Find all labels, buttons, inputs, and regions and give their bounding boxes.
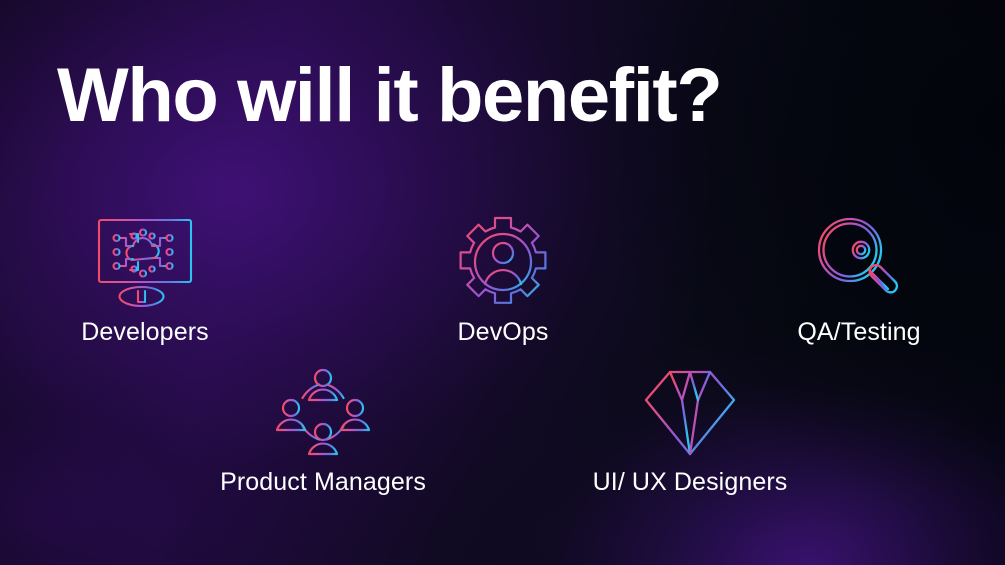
slide-canvas: Who will it benefit? [0, 0, 1005, 565]
benefit-item-developers: Developers [45, 212, 245, 347]
benefit-label-developers: Developers [81, 318, 208, 347]
diamond-icon [638, 362, 742, 462]
benefit-label-uiux: UI/ UX Designers [593, 468, 788, 497]
page-title: Who will it benefit? [57, 56, 721, 136]
monitor-cloud-network-icon [90, 212, 200, 312]
benefit-item-qa: QA/Testing [755, 212, 963, 347]
benefit-item-product-managers: Product Managers [225, 362, 421, 497]
benefit-label-product-managers: Product Managers [220, 468, 426, 497]
magnifier-key-icon [809, 212, 909, 312]
benefit-label-qa: QA/Testing [797, 318, 920, 347]
benefit-item-uiux: UI/ UX Designers [590, 362, 790, 497]
gear-person-icon [453, 212, 553, 312]
benefit-label-devops: DevOps [458, 318, 549, 347]
benefit-item-devops: DevOps [405, 212, 601, 347]
people-network-icon [273, 362, 373, 462]
